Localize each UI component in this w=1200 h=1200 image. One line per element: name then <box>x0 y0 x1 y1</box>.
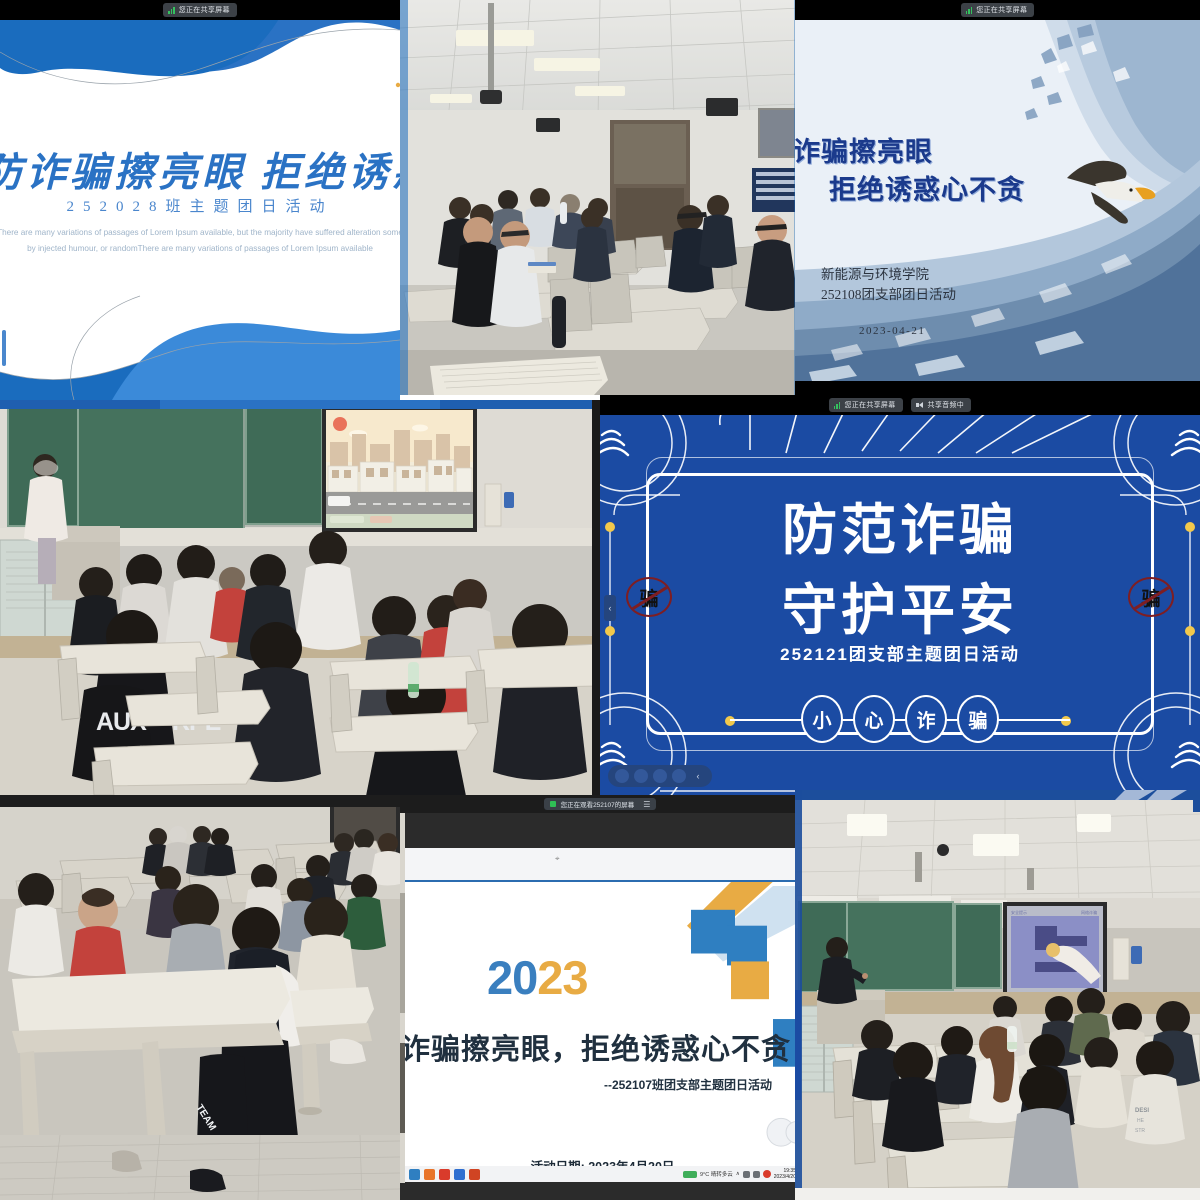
slide-document: 2023 诈骗擦亮眼，拒绝诱惑心不贪 --252107班团支部主题团日活动 活动… <box>405 848 800 1168</box>
taskbar-clock[interactable]: 19:35 2023/4/20 <box>774 1168 796 1181</box>
signal-bars-icon <box>966 7 973 14</box>
panel-ppt-cover-wave-seagull: 您正在共享屏幕 <box>795 0 1200 395</box>
org-line-2: 252108团支部团日活动 <box>821 285 956 305</box>
speaker-icon <box>916 402 924 409</box>
panel-classroom-photo-students-seated <box>400 0 800 395</box>
windows-taskbar[interactable]: 9°C 晴转多云 ∧ 19:35 2023/4/20 <box>405 1166 800 1182</box>
collapse-panel-button[interactable]: ‹ <box>604 595 616 621</box>
poster-badge-row: 小 心 诈 骗 <box>600 695 1200 743</box>
panel-classroom-photo-teacher-presenting: 安全提示 网络诈骗 <box>795 790 1200 1200</box>
slide-title: 防诈骗擦亮眼 拒绝诱惑心不贪 <box>0 140 400 198</box>
slide-subtitle: 252028班主题团日活动 <box>0 195 400 216</box>
weather-label[interactable]: 9°C 晴转多云 <box>700 1170 733 1178</box>
share-audio-label: 共享音频中 <box>928 400 965 410</box>
svg-text:HE: HE <box>1137 1118 1145 1124</box>
poster-headline-2: 守护平安 <box>600 565 1200 645</box>
meeting-toolbar[interactable]: ‹ <box>608 765 712 787</box>
teacher-presenting-photo: 安全提示 网络诈骗 <box>795 790 1200 1200</box>
powerpoint-icon[interactable] <box>469 1169 480 1180</box>
slide-byline: --252107班团支部主题团日活动 <box>604 1076 772 1093</box>
panel-shared-screen-2023-slide: 您正在观看252107的屏幕 ☰ 2023 诈骗擦亮眼，拒绝诱惑 <box>400 795 800 1200</box>
svg-text:网络诈骗: 网络诈骗 <box>1081 909 1097 915</box>
viewing-screen-bar: 您正在观看252107的屏幕 ☰ <box>400 795 800 813</box>
panel-classroom-photo-students-front-row: PUMA TEAM <box>0 795 400 1200</box>
panel-classroom-photo-projector-lecture: AUX RPE RE BE AUTIFUL AUTHENTIC AUX RPE <box>0 400 600 795</box>
slide-year: 2023 <box>487 950 588 1005</box>
share-screen-label: 您正在共享屏幕 <box>179 5 230 15</box>
share-screen-badge: 您正在共享屏幕 <box>163 3 237 17</box>
camera-icon[interactable] <box>634 769 648 783</box>
poster-badge-3: 骗 <box>957 695 999 743</box>
mouse-cursor-icon: ⌖ <box>555 854 559 860</box>
slide-canvas: 诈骗擦亮眼 拒绝诱惑心不贪 新能源与环境学院 252108团支部团日活动 202… <box>795 20 1200 381</box>
no-fraud-badge-left: 骗 <box>626 577 672 617</box>
slide-year-gold: 23 <box>537 951 587 1004</box>
bottom-letterbox-band <box>400 1182 800 1200</box>
chevron-left-icon[interactable]: ‹ <box>691 769 705 783</box>
folder-icon[interactable] <box>454 1169 465 1180</box>
lorem-line-2: by injected humour, or randomThere are m… <box>0 241 400 257</box>
classroom-projector-photo: AUX RPE RE BE AUTIFUL AUTHENTIC AUX RPE <box>0 400 600 795</box>
panel-ppt-cover-blue-wave: 您正在共享屏幕 防诈骗擦亮眼 拒绝诱惑心不贪 252028班主题团日活动 The… <box>0 0 400 400</box>
poster-canvas: 防范诈骗 守护平安 252121团支部主题团日活动 小 心 诈 骗 骗 骗 ‹ <box>600 395 1200 795</box>
share-icon[interactable] <box>653 769 667 783</box>
notification-icon[interactable] <box>763 1170 771 1178</box>
slide-date: 2023-04-21 <box>859 325 925 337</box>
svg-text:STR: STR <box>1135 1128 1145 1134</box>
recording-dot-icon <box>550 801 556 807</box>
no-fraud-char-right: 骗 <box>1141 584 1160 611</box>
share-screen-label: 您正在共享屏幕 <box>844 400 895 410</box>
classroom-photo <box>400 0 800 395</box>
slide-year-blue: 20 <box>487 951 537 1004</box>
poster-badge-1: 心 <box>853 695 895 743</box>
viewing-screen-badge: 您正在观看252107的屏幕 ☰ <box>544 798 657 810</box>
system-tray[interactable]: 9°C 晴转多云 ∧ 19:35 2023/4/20 <box>683 1168 796 1181</box>
share-screen-bar: 您正在共享屏幕 <box>0 0 400 20</box>
network-icon[interactable] <box>743 1171 750 1178</box>
wps-icon[interactable] <box>439 1169 450 1180</box>
slide-title-line1: 诈骗擦亮眼 <box>795 130 933 169</box>
no-fraud-char-left: 骗 <box>639 584 658 611</box>
search-icon[interactable] <box>424 1169 435 1180</box>
share-audio-badge: 共享音频中 <box>911 398 972 412</box>
poster-badge-2: 诈 <box>905 695 947 743</box>
svg-text:安全提示: 安全提示 <box>1011 909 1027 915</box>
share-screen-bar: 您正在共享屏幕 共享音频中 <box>600 395 1200 415</box>
no-fraud-badge-right: 骗 <box>1128 577 1174 617</box>
left-photo-sliver <box>400 813 405 1183</box>
battery-icon[interactable] <box>683 1171 697 1178</box>
signal-bars-icon <box>168 7 175 14</box>
share-screen-badge: 您正在共享屏幕 <box>961 3 1035 17</box>
menu-icon[interactable]: ☰ <box>643 800 650 809</box>
classroom-front-row-photo: PUMA TEAM <box>0 795 400 1200</box>
ruler-bar <box>405 848 800 880</box>
org-line-1: 新能源与环境学院 <box>821 265 956 285</box>
slide-headline: 诈骗擦亮眼，拒绝诱惑心不贪 <box>405 1026 791 1068</box>
lorem-line-1: There are many variations of passages of… <box>0 225 400 241</box>
slide-organization: 新能源与环境学院 252108团支部团日活动 <box>821 265 956 306</box>
windows-start-icon[interactable] <box>409 1169 420 1180</box>
share-screen-badge: 您正在共享屏幕 <box>829 398 903 412</box>
more-icon[interactable] <box>672 769 686 783</box>
slide-geometric-decoration <box>405 882 800 1168</box>
slide-title-line2: 拒绝诱惑心不贪 <box>829 168 1025 207</box>
svg-text:DESI: DESI <box>1135 1108 1149 1114</box>
signal-bars-icon <box>834 402 841 409</box>
share-screen-bar: 您正在共享屏幕 <box>795 0 1200 20</box>
photo-collage: 您正在共享屏幕 防诈骗擦亮眼 拒绝诱惑心不贪 252028班主题团日活动 The… <box>0 0 1200 1200</box>
poster-subtitle: 252121团支部主题团日活动 <box>600 640 1200 665</box>
clock-date: 2023/4/20 <box>774 1174 796 1180</box>
poster-badge-0: 小 <box>801 695 843 743</box>
poster-headline-1: 防范诈骗 <box>600 485 1200 565</box>
share-screen-label: 您正在共享屏幕 <box>976 5 1027 15</box>
volume-icon[interactable] <box>753 1171 760 1178</box>
mic-icon[interactable] <box>615 769 629 783</box>
slide-body-text: There are many variations of passages of… <box>0 225 400 256</box>
black-letterbox-band <box>400 813 800 848</box>
chevron-up-icon[interactable]: ∧ <box>736 1171 740 1177</box>
panel-anti-fraud-poster-slide: 防范诈骗 守护平安 252121团支部主题团日活动 小 心 诈 骗 骗 骗 ‹ <box>600 395 1200 795</box>
viewing-screen-label: 您正在观看252107的屏幕 <box>561 799 635 809</box>
